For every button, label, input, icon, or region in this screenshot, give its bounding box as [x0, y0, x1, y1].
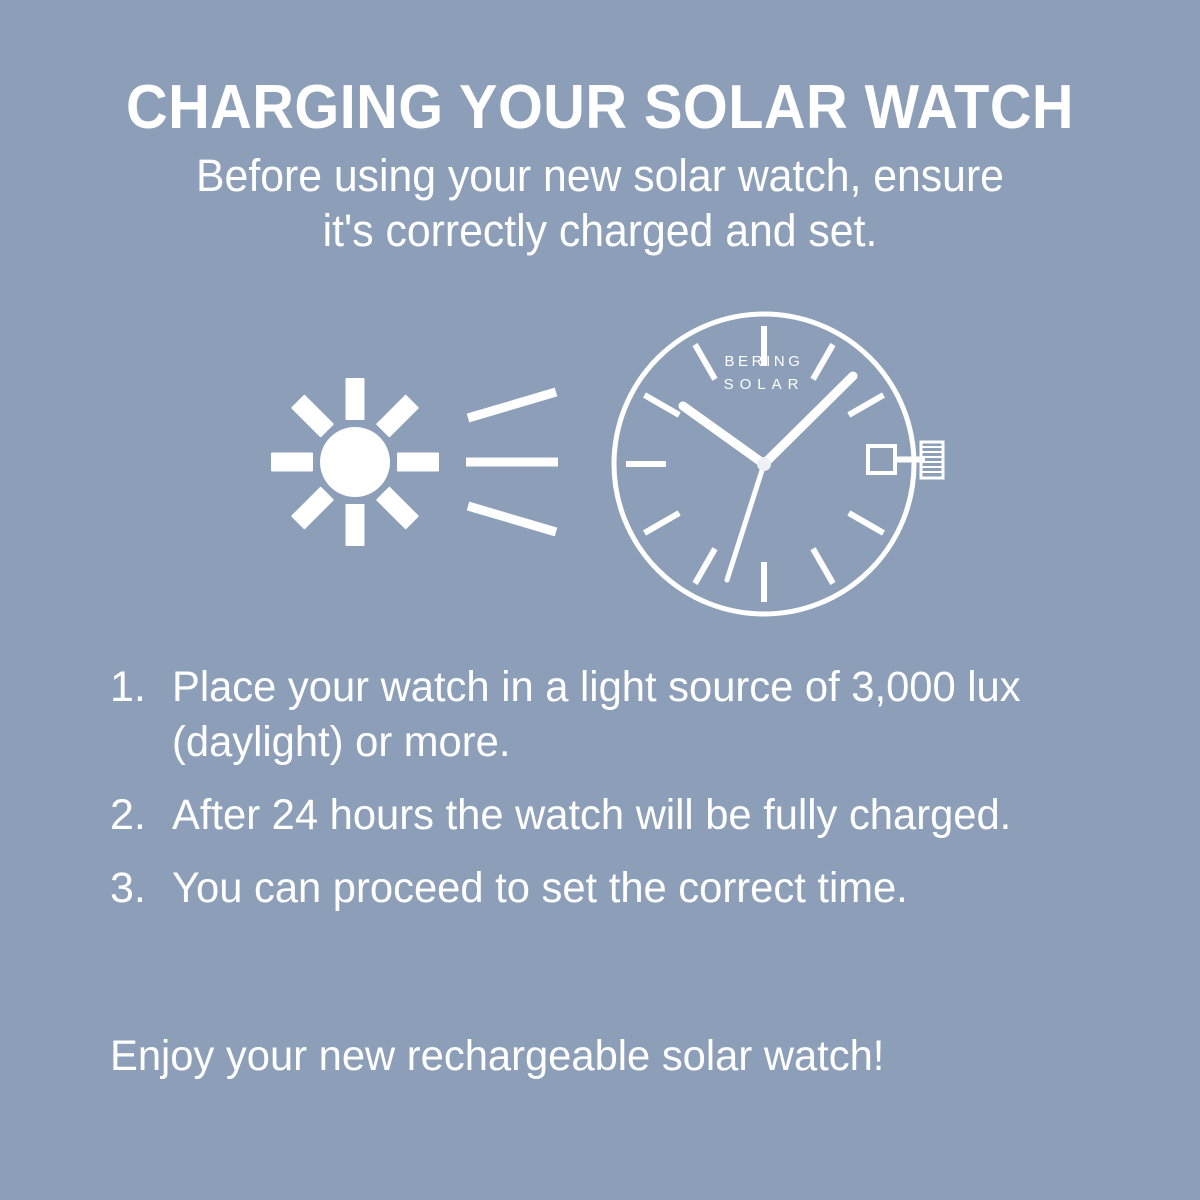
list-item: 3. You can proceed to set the correct ti…: [110, 861, 1100, 916]
header: CHARGING YOUR SOLAR WATCH Before using y…: [60, 76, 1140, 259]
step-number: 2.: [110, 788, 172, 843]
watch-brand-text: BERING: [724, 353, 803, 370]
step-text: You can proceed to set the correct time.: [172, 861, 1072, 916]
step-text: Place your watch in a light source of 3,…: [172, 660, 1072, 770]
illustration: BERING SOLAR: [0, 290, 1200, 640]
solar-watch-icon: BERING SOLAR: [614, 314, 943, 614]
watch-center-pin: [757, 457, 771, 471]
sun-icon: [271, 378, 439, 546]
outro-text: Enjoy your new rechargeable solar watch!: [110, 1030, 1080, 1084]
page-subtitle: Before using your new solar watch, ensur…: [120, 149, 1080, 259]
step-number: 3.: [110, 861, 172, 916]
list-item: 2. After 24 hours the watch will be full…: [110, 788, 1100, 843]
subtitle-line-2: it's correctly charged and set.: [120, 204, 1080, 259]
step-number: 1.: [110, 660, 172, 715]
light-beams-icon: [466, 392, 558, 532]
watch-hands: [683, 376, 853, 580]
watch-model-text: SOLAR: [724, 376, 805, 393]
page-title: CHARGING YOUR SOLAR WATCH: [98, 76, 1102, 139]
list-item: 1. Place your watch in a light source of…: [110, 660, 1100, 770]
infographic-poster: CHARGING YOUR SOLAR WATCH Before using y…: [0, 0, 1200, 1200]
step-text: After 24 hours the watch will be fully c…: [172, 788, 1072, 843]
subtitle-line-1: Before using your new solar watch, ensur…: [120, 149, 1080, 204]
watch-hour-hand: [683, 406, 764, 464]
steps-list: 1. Place your watch in a light source of…: [110, 660, 1100, 934]
watch-second-hand: [727, 464, 764, 580]
watch-date-window: [868, 446, 925, 473]
